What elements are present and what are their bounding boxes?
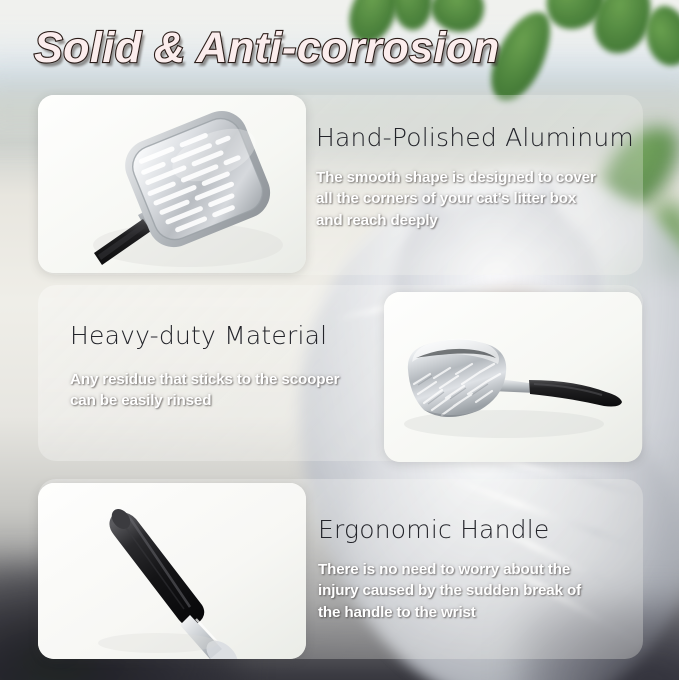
feature-body-line: and reach deeply	[316, 210, 636, 232]
product-photo-handle-closeup[interactable]	[38, 483, 306, 659]
feature-text-ergonomic-handle: Ergonomic Handle There is no need to wor…	[318, 516, 638, 623]
product-photo-scoop-side-view[interactable]	[384, 292, 642, 462]
feature-body: There is no need to worry about the inju…	[318, 559, 638, 624]
scoop-top-view-illustration	[38, 95, 306, 273]
feature-heading: Ergonomic Handle	[318, 516, 638, 545]
feature-body: The smooth shape is designed to cover al…	[316, 167, 636, 232]
infographic-root: Solid & Anti-corrosion	[0, 0, 679, 680]
feature-body-line: There is no need to worry about the	[318, 559, 638, 581]
handle-closeup-illustration	[38, 483, 306, 659]
feature-text-heavy-duty-material: Heavy-duty Material Any residue that sti…	[70, 322, 380, 412]
feature-body-line: injury caused by the sudden break of	[318, 580, 638, 602]
feature-body: Any residue that sticks to the scooper c…	[70, 369, 380, 412]
feature-body-line: Any residue that sticks to the scooper	[70, 369, 380, 391]
feature-body-line: all the corners of your cat’s litter box	[316, 188, 636, 210]
feature-heading: Heavy-duty Material	[70, 322, 380, 351]
feature-text-hand-polished-aluminum: Hand-Polished Aluminum The smooth shape …	[316, 124, 636, 231]
product-photo-scoop-top-view[interactable]	[38, 95, 306, 273]
feature-body-line: the handle to the wrist	[318, 602, 638, 624]
feature-heading: Hand-Polished Aluminum	[316, 124, 636, 153]
feature-body-line: can be easily rinsed	[70, 390, 380, 412]
feature-body-line: The smooth shape is designed to cover	[316, 167, 636, 189]
scoop-side-view-illustration	[384, 292, 642, 462]
page-title: Solid & Anti-corrosion	[34, 24, 500, 73]
